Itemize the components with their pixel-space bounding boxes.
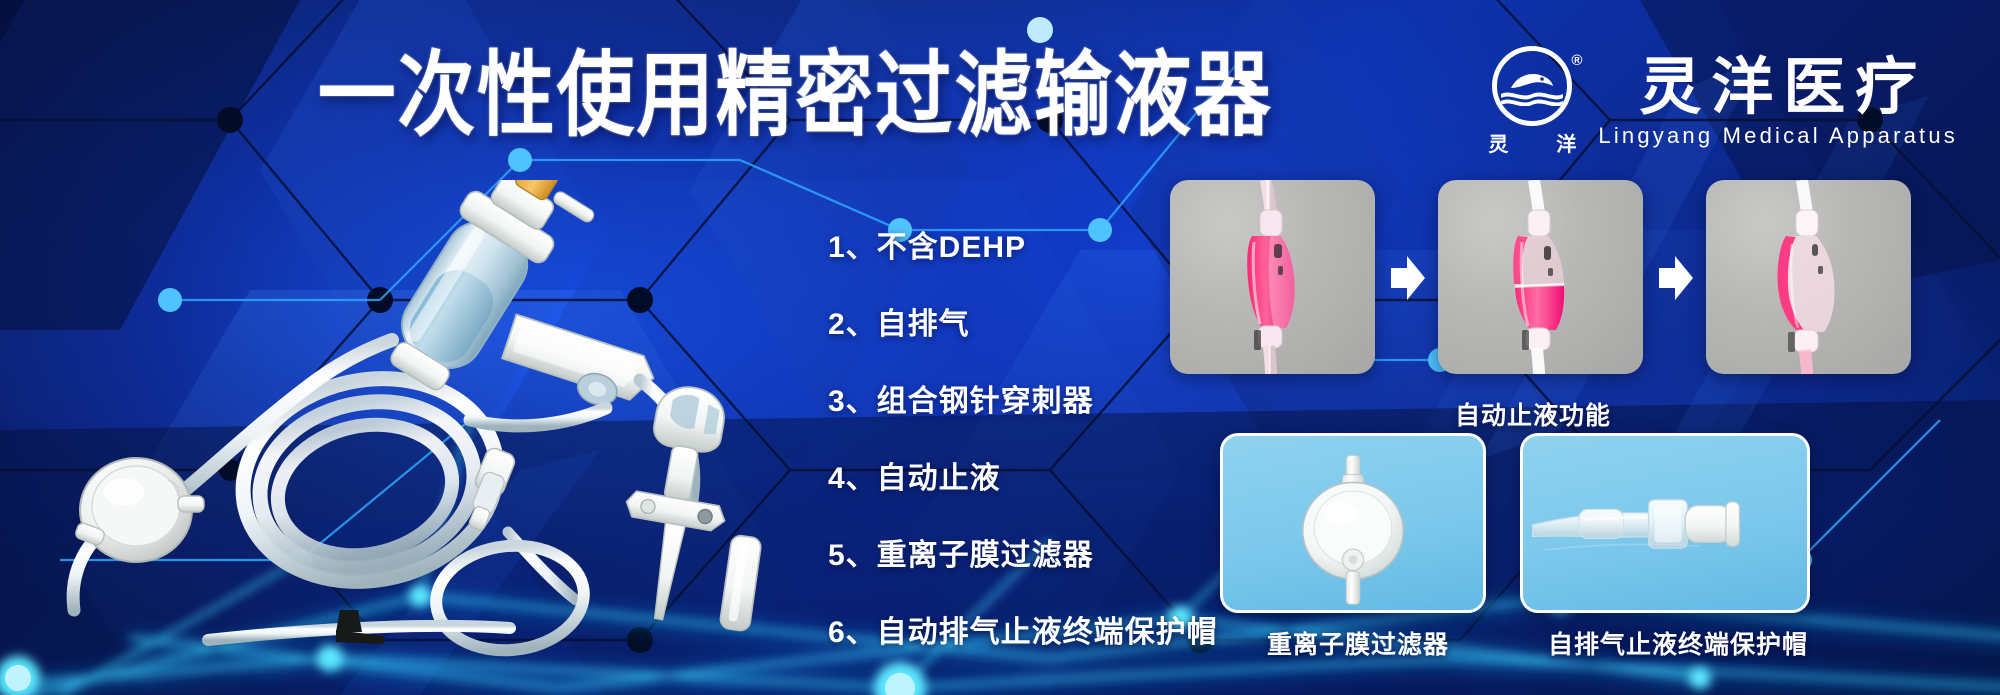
arrow-right-icon-2	[1655, 252, 1695, 304]
feature-list: 1、不含DEHP 2、自排气 3、组合钢针穿刺器 4、自动止液 5、重离子膜过滤…	[828, 222, 1218, 651]
product-photo-infusion-set	[40, 180, 820, 680]
wave-icon	[1501, 90, 1563, 106]
brand-logo: ® 灵 洋 灵洋医疗 Lingyang Medical Apparatus	[1484, 46, 1958, 158]
photo-protective-cap	[1520, 433, 1810, 613]
emblem-circle-icon	[1492, 46, 1572, 126]
emblem-char-left: 灵	[1488, 128, 1508, 157]
caption-protective-cap: 自排气止液终端保护帽	[1548, 625, 1808, 661]
caption-auto-stop: 自动止液功能	[1455, 396, 1611, 432]
emblem-icon: ® 灵 洋	[1484, 46, 1580, 158]
photo-drip-chamber-full	[1170, 180, 1375, 374]
arrow-right-icon-1	[1387, 252, 1427, 304]
emblem-subchars: 灵 洋	[1484, 128, 1580, 157]
brand-text: 灵洋医疗 Lingyang Medical Apparatus	[1598, 55, 1958, 148]
feature-item-1: 1、不含DEHP	[828, 222, 1218, 266]
feature-item-6: 6、自动排气止液终端保护帽	[828, 607, 1218, 651]
caption-filter: 重离子膜过滤器	[1267, 625, 1449, 661]
promotional-banner: 一次性使用精密过滤输液器 ® 灵 洋 灵洋医疗 Lingyang Med	[0, 0, 2000, 695]
photo-drip-chamber-half	[1438, 180, 1643, 374]
brand-name-cn: 灵洋医疗	[1629, 55, 1927, 120]
brand-name-en: Lingyang Medical Apparatus	[1598, 123, 1958, 149]
feature-item-5: 5、重离子膜过滤器	[828, 530, 1218, 574]
feature-item-3: 3、组合钢针穿刺器	[828, 376, 1218, 420]
registered-mark: ®	[1571, 52, 1582, 69]
photo-heavy-ion-membrane-filter	[1220, 433, 1486, 613]
page-title: 一次性使用精密过滤输液器	[318, 50, 1273, 143]
feature-item-2: 2、自排气	[828, 299, 1218, 343]
emblem-char-right: 洋	[1556, 128, 1576, 157]
feature-item-4: 4、自动止液	[828, 453, 1218, 497]
photo-drip-chamber-empty	[1706, 180, 1911, 374]
